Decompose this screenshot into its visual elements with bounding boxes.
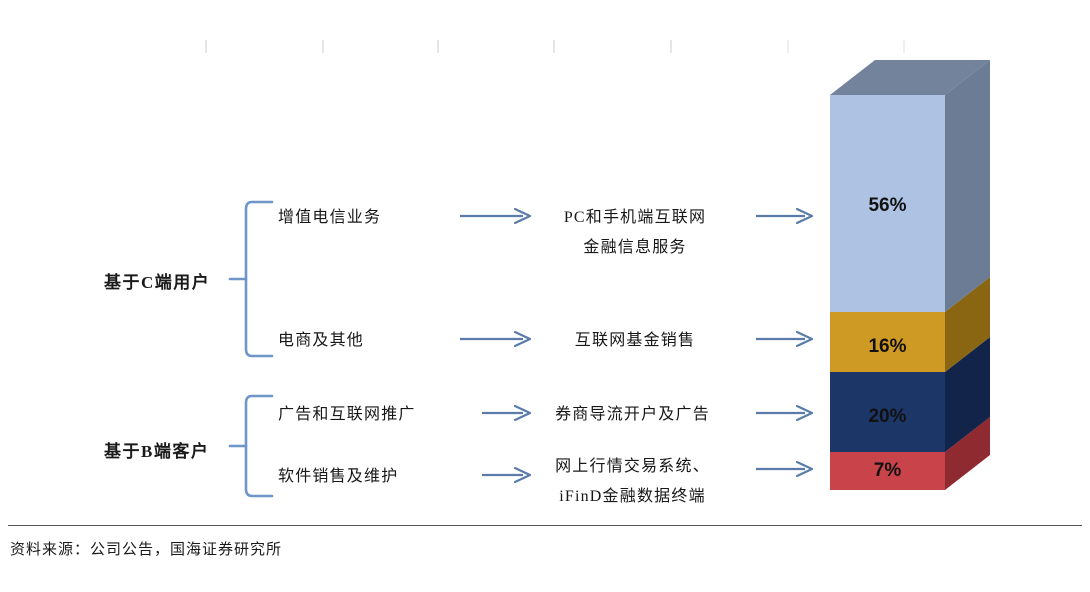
service-label-value-added-telecom: 增值电信业务 [278, 203, 381, 233]
axis-tick [553, 40, 555, 53]
bar-value-software: 7% [830, 460, 945, 482]
arrow-service-to-product-1 [460, 206, 534, 226]
product-label-trading-system-ifind: 网上行情交易系统、 iFinD金融数据终端 [525, 452, 740, 512]
figure-canvas: 基于C端用户 增值电信业务 PC和手机端互联网 金融信息服务 电商及其他 互联网… [0, 0, 1090, 592]
product-line-2: 金融信息服务 [530, 233, 740, 263]
axis-tick [205, 40, 207, 53]
product-line-1: PC和手机端互联网 [530, 203, 740, 233]
axis-tick [322, 40, 324, 53]
revenue-structure-stacked-bar-3d [815, 50, 1015, 510]
bar-value-telecom: 56% [830, 195, 945, 217]
footer-divider [8, 525, 1082, 526]
arrow-service-to-product-2 [460, 329, 534, 349]
group-label-c: 基于C端用户 [104, 268, 210, 293]
source-note: 资料来源：公司公告，国海证券研究所 [10, 538, 282, 559]
axis-tick [787, 40, 789, 53]
arrow-product-to-bar-1 [756, 206, 816, 226]
service-label-ads-internet-promotion: 广告和互联网推广 [278, 400, 416, 430]
group-label-b: 基于B端客户 [104, 437, 209, 462]
bar-segment-side-telecom [945, 60, 990, 312]
product-label-internet-finance-info: PC和手机端互联网 金融信息服务 [530, 203, 740, 263]
service-label-ecommerce-other: 电商及其他 [278, 326, 364, 356]
arrow-product-to-bar-2 [756, 329, 816, 349]
axis-tick [670, 40, 672, 53]
bar-value-ads: 20% [830, 406, 945, 428]
product-line-1: 网上行情交易系统、 [525, 452, 740, 482]
axis-tick [437, 40, 439, 53]
arrow-product-to-bar-3 [756, 403, 816, 423]
bracket-group-c [228, 198, 274, 360]
product-label-internet-fund-sales: 互联网基金销售 [530, 326, 740, 356]
bar-value-ecommerce: 16% [830, 336, 945, 358]
product-label-broker-traffic-ads: 券商导流开户及广告 [525, 400, 740, 430]
arrow-product-to-bar-4 [756, 459, 816, 479]
service-label-software-sales-maintenance: 软件销售及维护 [278, 462, 398, 492]
bracket-group-b [228, 392, 274, 500]
product-line-2: iFinD金融数据终端 [525, 482, 740, 512]
